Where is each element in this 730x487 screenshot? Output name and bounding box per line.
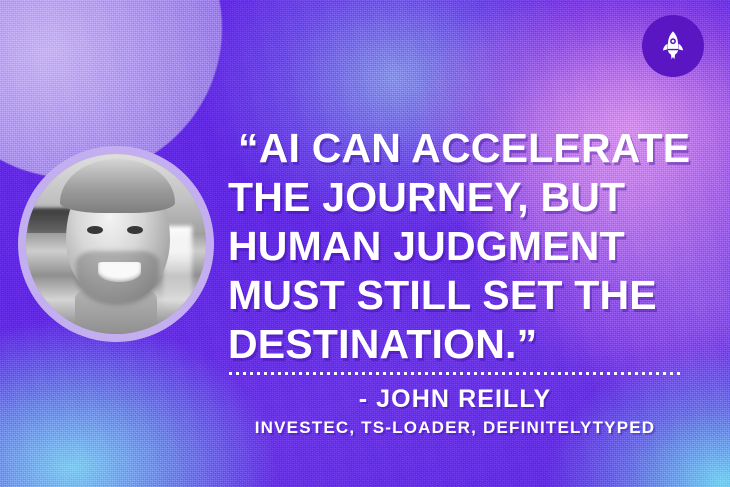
photo-eye-right <box>127 226 143 234</box>
avatar <box>18 146 214 342</box>
quote-card: “AI CAN ACCELERATE THE JOURNEY, BUT HUMA… <box>0 0 730 487</box>
photo-smile <box>98 262 141 282</box>
quote-line: HUMAN JUDGMENT <box>228 222 698 271</box>
quote-line: MUST STILL SET THE <box>228 271 698 320</box>
attribution-company: INVESTEC, TS-LOADER, DEFINITELYTYPED <box>229 416 681 440</box>
avatar-photo <box>26 154 206 334</box>
quote-line: THE JOURNEY, BUT <box>228 173 698 222</box>
quote-line: DESTINATION.” <box>228 320 698 369</box>
attribution-name: - JOHN REILLY <box>229 384 681 414</box>
rocket-icon <box>656 29 690 63</box>
attribution: - JOHN REILLY INVESTEC, TS-LOADER, DEFIN… <box>229 384 681 440</box>
quote-line: “AI CAN ACCELERATE <box>228 124 698 173</box>
quote-text: “AI CAN ACCELERATE THE JOURNEY, BUT HUMA… <box>228 124 698 369</box>
dotted-divider <box>229 372 681 375</box>
logo-badge[interactable] <box>642 15 704 77</box>
